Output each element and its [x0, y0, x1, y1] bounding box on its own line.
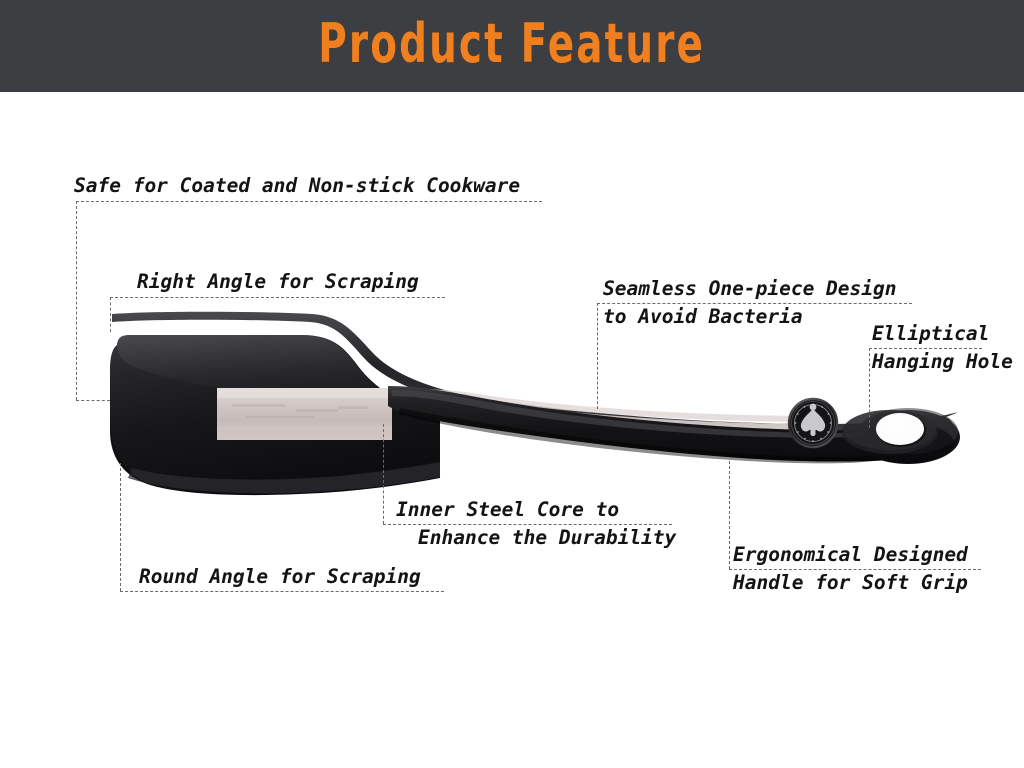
callout-line: Hanging Hole — [872, 348, 1013, 376]
product-feature-page: Product Feature — [0, 0, 1024, 768]
callout-line: Handle for Soft Grip — [733, 569, 968, 597]
callout-round-angle-scraping: Round Angle for Scraping — [139, 563, 421, 591]
leader-line-ergonomical-horizontal — [729, 569, 981, 570]
leader-line-right-angle-horizontal — [110, 297, 445, 298]
leader-line-safe-coated-horizontal — [76, 201, 542, 202]
callout-line: Seamless One-piece Design — [603, 275, 897, 303]
leader-line-safe-coated-pointer — [76, 400, 110, 401]
callout-line: Elliptical — [872, 320, 1013, 348]
leader-line-elliptical-horizontal — [869, 348, 982, 349]
leader-line-steel-core-horizontal — [383, 524, 672, 525]
elliptical-hanging-hole — [876, 413, 926, 447]
leader-line-round-angle-horizontal — [120, 591, 444, 592]
callout-line: Right Angle for Scraping — [137, 268, 419, 296]
inner-steel-core — [217, 388, 820, 440]
header-bar: Product Feature — [0, 0, 1024, 92]
leader-line-right-angle-vertical — [110, 297, 111, 332]
callout-right-angle-scraping: Right Angle for Scraping — [137, 268, 419, 296]
callout-line: Safe for Coated and Non-stick Cookware — [74, 172, 520, 200]
spatula-head — [110, 335, 440, 495]
callout-line: Ergonomical Designed — [733, 541, 968, 569]
leader-line-steel-core-vertical — [383, 424, 384, 524]
callout-line: Inner Steel Core to — [396, 496, 676, 524]
leader-line-safe-coated-vertical — [76, 201, 77, 400]
callout-line: Enhance the Durability — [396, 524, 676, 552]
hanging-hole-recess — [842, 410, 938, 454]
product-illustration — [0, 0, 1024, 768]
leader-line-elliptical-vertical — [869, 348, 870, 428]
logo-badge-icon — [788, 398, 838, 448]
callout-line: Round Angle for Scraping — [139, 563, 421, 591]
leader-line-seamless-vertical — [597, 303, 598, 409]
leader-line-ergonomical-vertical — [729, 461, 730, 569]
page-title: Product Feature — [319, 17, 706, 75]
leader-line-seamless-horizontal — [597, 303, 912, 304]
callout-line: to Avoid Bacteria — [603, 303, 897, 331]
spatula-handle — [388, 386, 960, 464]
callout-safe-coated-cookware: Safe for Coated and Non-stick Cookware — [74, 172, 520, 200]
leader-line-round-angle-vertical — [120, 463, 121, 591]
